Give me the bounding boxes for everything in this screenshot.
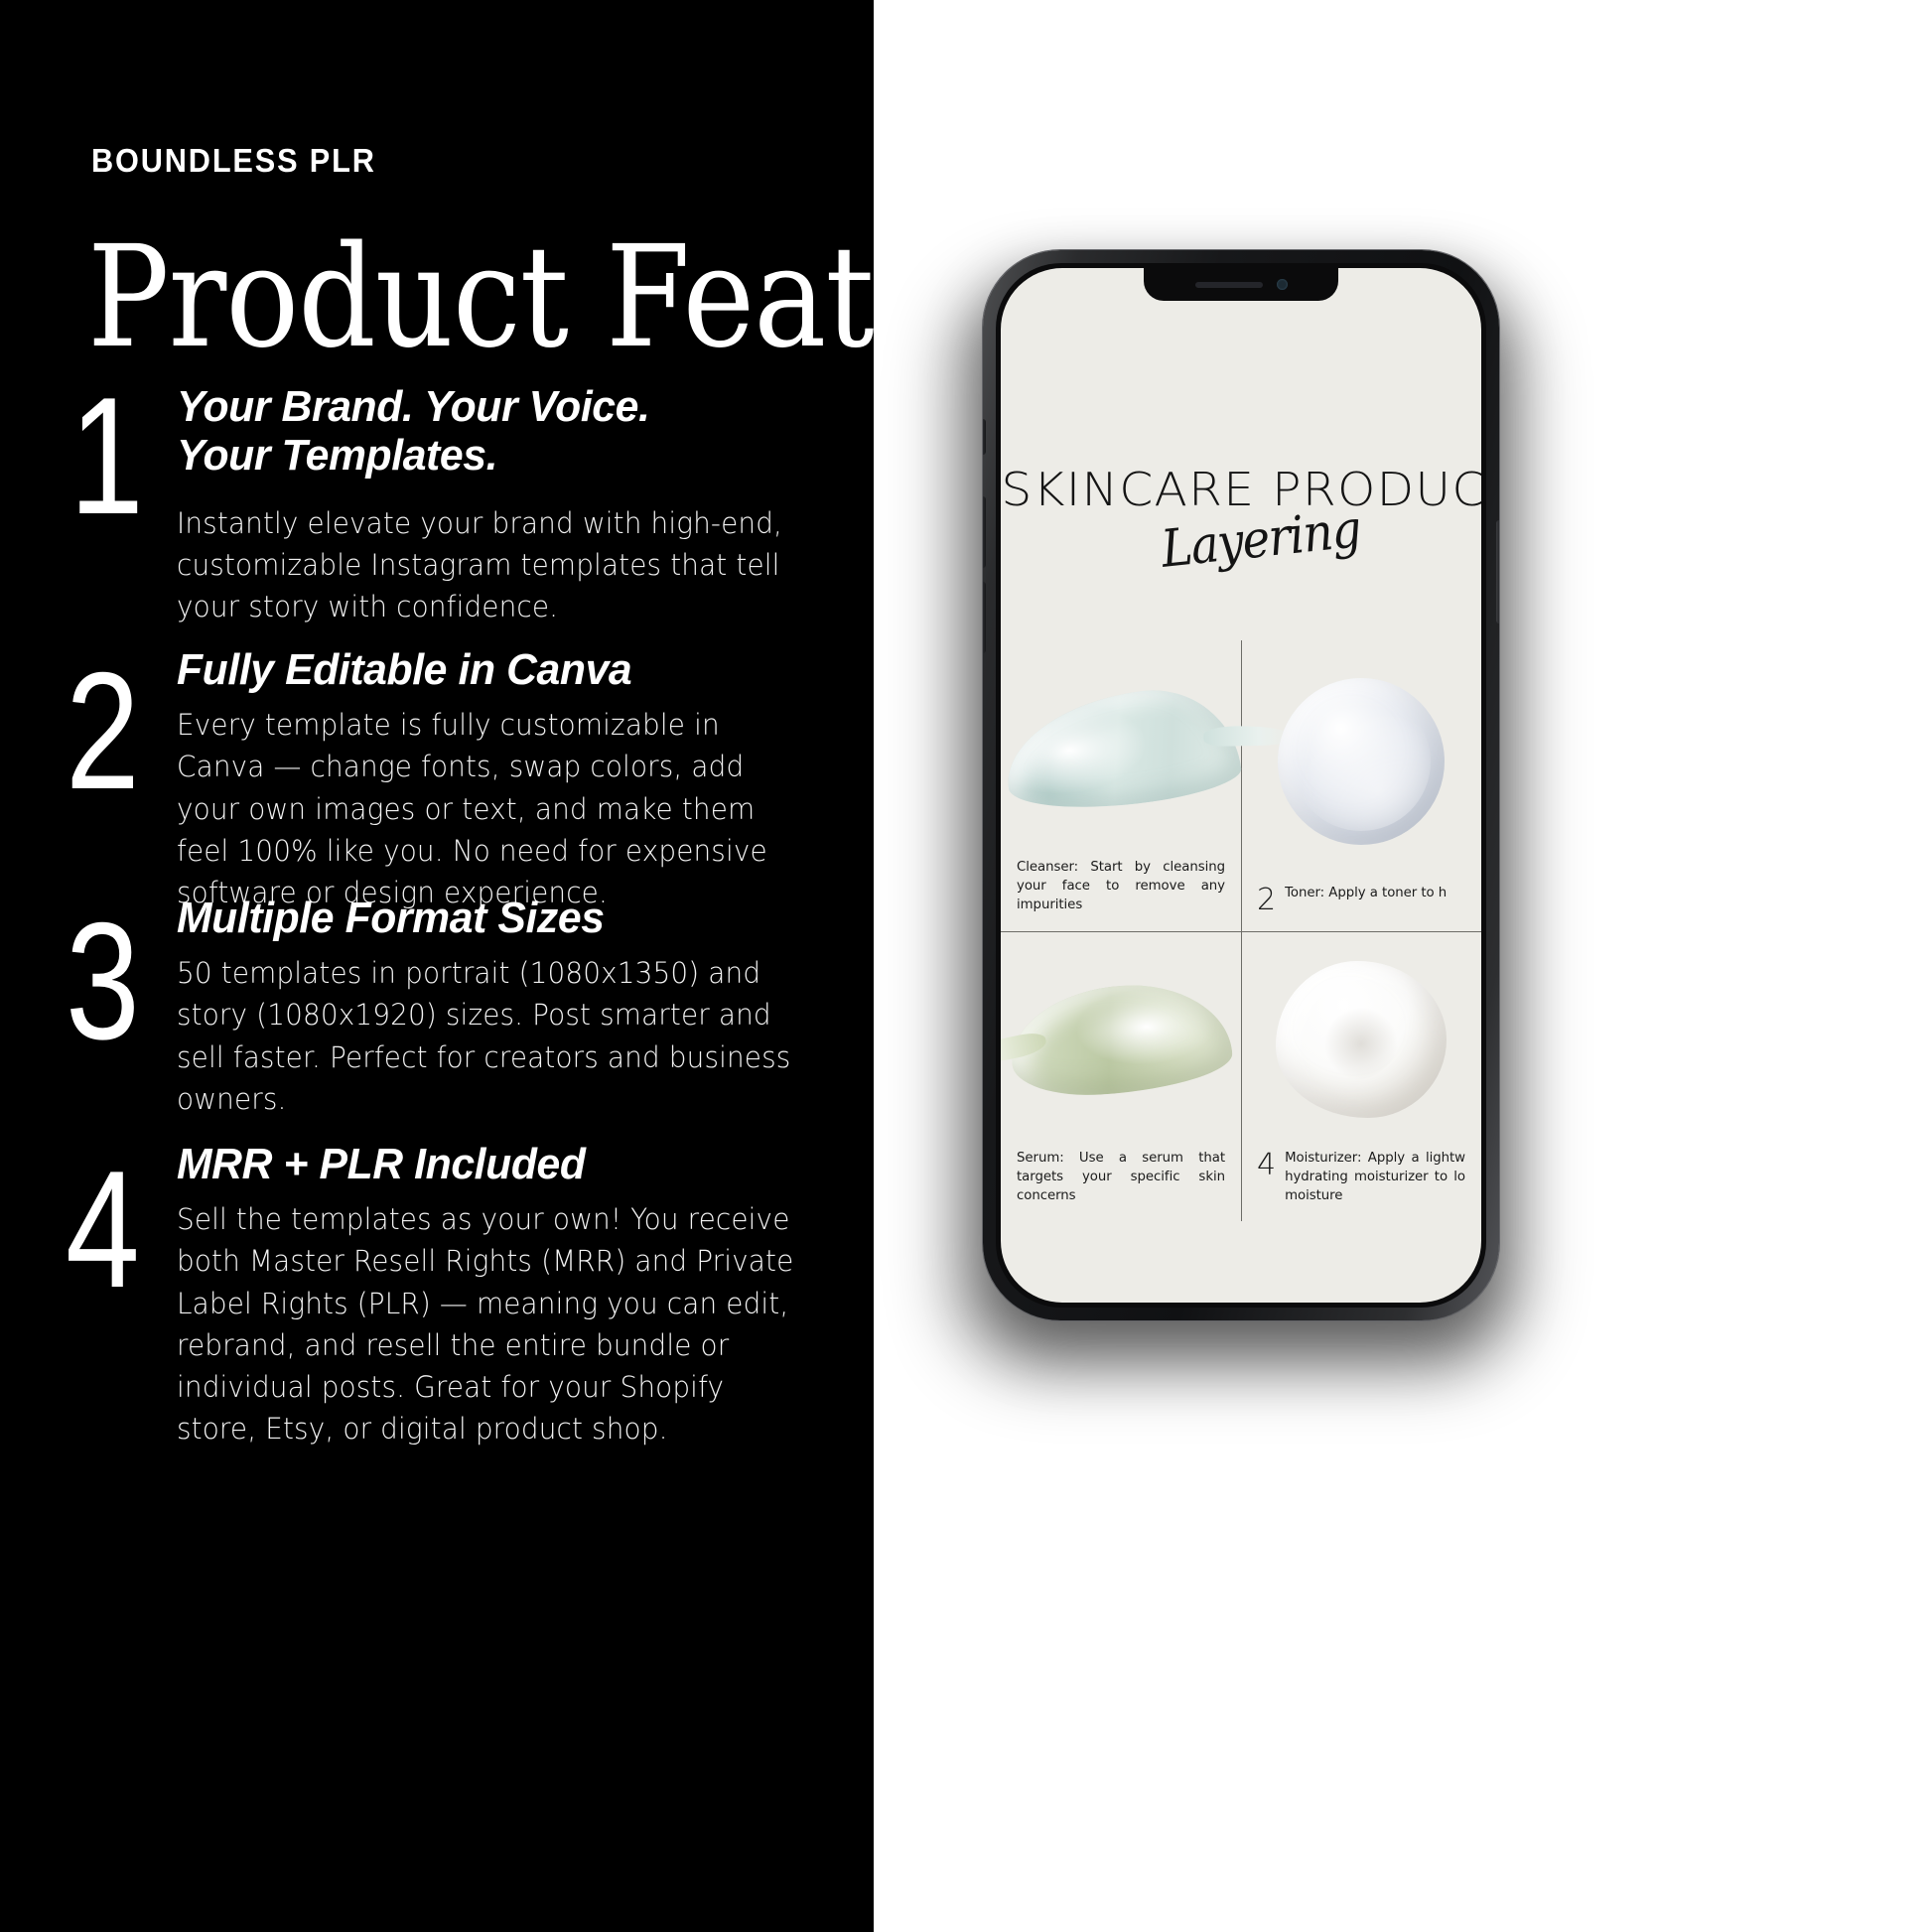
poster-canvas: BOUNDLESS PLR Product Features 1 Your Br… (0, 0, 1932, 1932)
phone-mockup: SKINCARE PRODUCTS Layering Cleanser: Sta… (983, 250, 1499, 1320)
front-camera-icon (1277, 279, 1288, 290)
instagram-template: SKINCARE PRODUCTS Layering Cleanser: Sta… (1001, 268, 1481, 1303)
step-text-1: Cleanser: Start by cleansing your face t… (1017, 858, 1225, 914)
step-art-4 (1241, 931, 1481, 1149)
cleanser-swatch-image (1001, 680, 1243, 819)
power-button[interactable] (1496, 520, 1499, 623)
step-art-1 (1001, 640, 1241, 858)
feature-body-2: Fully Editable in Canva Every template i… (177, 645, 832, 913)
phone-screen[interactable]: SKINCARE PRODUCTS Layering Cleanser: Sta… (1001, 268, 1481, 1303)
step-art-3 (1001, 931, 1241, 1149)
feature-body-1: Your Brand. Your Voice. Your Templates. … (177, 382, 832, 627)
step-text-4: Moisturizer: Apply a lightw hydrating mo… (1285, 1149, 1465, 1205)
feature-number-4: 4 (66, 1162, 137, 1299)
step-text-3: Serum: Use a serum that targets your spe… (1017, 1149, 1225, 1205)
step-caption-1: Cleanser: Start by cleansing your face t… (1001, 858, 1241, 930)
feature-text-2: Every template is fully customizable in … (177, 704, 796, 913)
step-art-2 (1241, 640, 1481, 884)
step-text-2: Toner: Apply a toner to h (1285, 884, 1447, 902)
feature-heading-3: Multiple Format Sizes (177, 894, 812, 942)
speaker-grille-icon (1195, 282, 1263, 288)
phone-notch (1144, 268, 1338, 301)
feature-number-2: 2 (66, 663, 137, 800)
phone-bezel: SKINCARE PRODUCTS Layering Cleanser: Sta… (996, 263, 1486, 1308)
feature-heading-1-line2: Your Templates. (177, 431, 812, 480)
mute-switch-button[interactable] (983, 419, 986, 455)
step-caption-3: Serum: Use a serum that targets your spe… (1001, 1149, 1241, 1221)
feature-text-1: Instantly elevate your brand with high-e… (177, 502, 796, 628)
feature-number-3: 3 (66, 913, 137, 1050)
feature-heading-1: Your Brand. Your Voice. Your Templates. (177, 382, 812, 481)
feature-body-4: MRR + PLR Included Sell the templates as… (177, 1140, 832, 1449)
step-cell-2: 2 Toner: Apply a toner to h (1241, 640, 1481, 931)
step-caption-2: 2 Toner: Apply a toner to h (1241, 884, 1481, 931)
step-cell-4: 4 Moisturizer: Apply a lightw hydrating … (1241, 931, 1481, 1222)
step-number-4: 4 (1257, 1151, 1276, 1180)
serum-swatch-image (1008, 978, 1235, 1100)
feature-heading-2: Fully Editable in Canva (177, 645, 812, 694)
step-caption-4: 4 Moisturizer: Apply a lightw hydrating … (1241, 1149, 1481, 1221)
template-header: SKINCARE PRODUCTS Layering (1001, 268, 1481, 569)
volume-up-button[interactable] (983, 496, 986, 568)
feature-text-3: 50 templates in portrait (1080x1350) and… (177, 952, 796, 1120)
feature-heading-4: MRR + PLR Included (177, 1140, 812, 1188)
feature-number-1: 1 (69, 388, 141, 525)
moisturizer-swatch-image (1276, 961, 1447, 1118)
step-cell-3: Serum: Use a serum that targets your spe… (1001, 931, 1241, 1222)
feature-text-4: Sell the templates as your own! You rece… (177, 1198, 796, 1449)
volume-down-button[interactable] (983, 582, 986, 653)
toner-swatch-image (1278, 678, 1445, 845)
left-content-panel: BOUNDLESS PLR Product Features 1 Your Br… (0, 0, 874, 1932)
step-number-2: 2 (1257, 886, 1276, 915)
brand-label: BOUNDLESS PLR (91, 142, 376, 180)
step-cell-1: Cleanser: Start by cleansing your face t… (1001, 640, 1241, 931)
feature-heading-1-line1: Your Brand. Your Voice. (177, 382, 812, 431)
feature-body-3: Multiple Format Sizes 50 templates in po… (177, 894, 832, 1120)
steps-grid: Cleanser: Start by cleansing your face t… (1001, 640, 1481, 1221)
